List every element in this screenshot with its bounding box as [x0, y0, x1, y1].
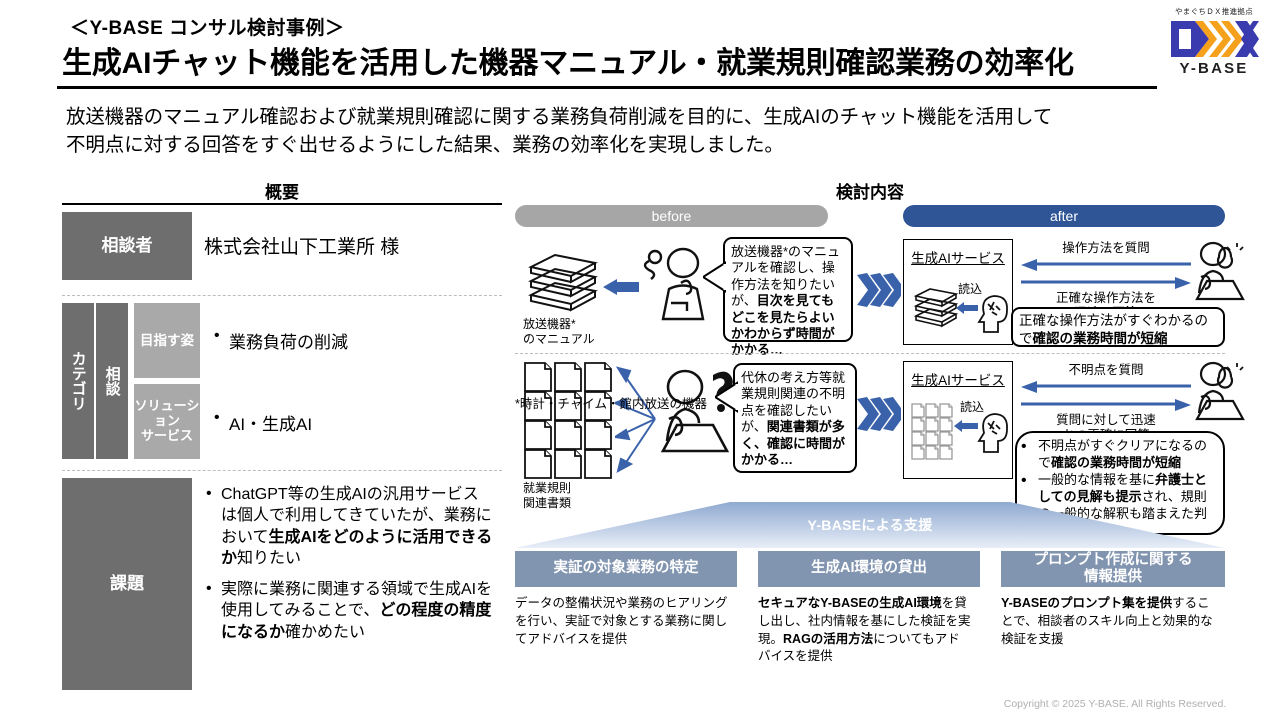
manual-caption-line2: のマニュアル	[523, 332, 595, 347]
support-card-2-title: 生成AI環境の貸出	[758, 551, 980, 587]
before-bubble-row2: 代休の考え方等就業規則関連の不明点を確認したいが、関連書類が多く、確認に時間がか…	[733, 363, 857, 473]
aim-bullet: 業務負荷の削減	[212, 328, 348, 353]
row-issue-label: 課題	[62, 478, 192, 690]
row-category-label: カテゴリ	[62, 303, 94, 459]
support-card-3-body: Y-BASEのプロンプト集を提供することで、相談者のスキル向上と効果的な検証を支…	[1001, 595, 1219, 648]
ai-read-arrow-row1	[956, 302, 978, 314]
issue-item: ChatGPT等の生成AIの汎用サービスは個人で利用してきていたが、業務において…	[204, 484, 494, 570]
ai-document-grid-icon	[910, 402, 958, 460]
arrow-up-text-row1: 操作方法を質問	[1062, 241, 1150, 255]
row-issue-value: ChatGPT等の生成AIの汎用サービスは個人で利用してきていたが、業務において…	[204, 484, 494, 643]
support-card-2-body: セキュアなY-BASEの生成AI環境を貸し出し、社内情報を基にした検証を実現。R…	[758, 595, 972, 666]
logo-tagline: やまぐちＤＸ推進拠点	[1158, 6, 1270, 17]
ai-brain-head-icon-row2	[976, 410, 1010, 454]
ai-service-box-row2: 生成AIサービス 読込	[903, 361, 1013, 479]
content-panel: before after 放送機器* のマニュアル 放送機器*のマニュアルを確認…	[515, 205, 1225, 695]
support-card-1-title: 実証の対象業務の特定	[515, 551, 737, 587]
arrow-right-row2	[1021, 399, 1191, 411]
manual-stack-icon	[525, 249, 601, 317]
arrow-right-row1	[1021, 277, 1191, 289]
solution-label-line2: サービス	[141, 429, 193, 444]
bubble-tail-row1	[703, 261, 727, 297]
issue-item: 実際に業務に関連する領域で生成AIを使用してみることで、どの程度の精度になるか確…	[204, 579, 494, 643]
support-card-1-body: データの整備状況や業務のヒアリングを行い、実証で対象とする業務に関してアドバイス…	[515, 595, 729, 648]
after-result-bubble-row1: 正確な操作方法がすぐわかるので確認の業務時間が短縮	[1011, 307, 1225, 347]
row-client-value: 株式会社山下工業所 様	[204, 232, 399, 259]
row-solution-label: ソリューション サービス	[134, 384, 200, 459]
card3-title-line2: 情報提供	[1084, 569, 1142, 586]
transition-chevrons-row1	[857, 273, 901, 307]
arrow-left-row2	[1021, 381, 1191, 393]
left-arrow-icon	[603, 279, 639, 295]
ai-brain-head-icon-row1	[976, 292, 1010, 334]
card3-title-line1: プロンプト作成に関する	[1033, 552, 1192, 569]
fan-arrows-icon	[615, 363, 657, 475]
result-text-plain: 一般的な情報を基に	[1038, 472, 1155, 487]
lead-paragraph: 放送機器のマニュアル確認および就業規則確認に関する業務負荷削減を目的に、生成AI…	[66, 104, 1186, 159]
document-grid-icon	[523, 361, 619, 479]
content-section-heading: 検討内容	[515, 178, 1225, 203]
result-text-bold-row1: 確認の業務時間が短縮	[1033, 331, 1168, 346]
title-divider	[57, 86, 1157, 89]
arrow-down-text-row1-l1: 正確な操作方法を	[1021, 291, 1191, 306]
table-divider-1	[62, 295, 502, 296]
arrow-left-row1	[1021, 259, 1191, 271]
ybase-logo: やまぐちＤＸ推進拠点 Y-BASE	[1158, 6, 1270, 80]
footnote: *時計・チャイム・館内放送の機器	[515, 393, 707, 412]
support-band-label: Y-BASEによる支援	[515, 515, 1225, 535]
dx-logo-icon	[1169, 19, 1261, 59]
arrow-up-label-row2: 不明点を質問	[1021, 363, 1191, 378]
issue-text-tail: 知りたい	[237, 550, 301, 567]
card3-bold1: Y-BASEのプロンプト集を提供	[1001, 596, 1172, 610]
ai-manual-stack-icon	[912, 284, 960, 328]
support-card-3-title: プロンプト作成に関する 情報提供	[1001, 551, 1225, 587]
manual-stack-caption: 放送機器* のマニュアル	[523, 317, 595, 347]
page-title: 生成AIチャット機能を活用した機器マニュアル・就業規則確認業務の効率化	[62, 38, 1074, 82]
row-solution-value: AI・生成AI	[212, 410, 312, 435]
lead-line-2: 不明点に対する回答をすぐ出せるようにした結果、業務の効率化を実現しました。	[66, 132, 1186, 160]
result-item-row2: 不明点がすぐクリアになるので確認の業務時間が短縮	[1019, 438, 1219, 472]
row-consult-label: 相談	[96, 303, 128, 459]
person-laptop-icon-row1	[1191, 241, 1247, 307]
slide-header: ＜Y-BASE コンサル検討事例＞ 生成AIチャット機能を活用した機器マニュアル…	[0, 0, 1280, 92]
before-bubble-row1: 放送機器*のマニュアルを確認し、操作方法を知りたいが、目次を見てもどこを見たらよ…	[723, 237, 853, 342]
ai-box-title: 生成AIサービス	[904, 247, 1012, 267]
after-pill: after	[903, 205, 1225, 227]
ai-service-box-row1: 生成AIサービス 読込	[903, 239, 1013, 345]
solution-bullet: AI・生成AI	[212, 410, 312, 435]
row-aim-label: 目指す姿	[134, 303, 200, 378]
overview-heading-rule	[62, 203, 502, 205]
ai-read-arrow-row2	[954, 420, 978, 432]
logo-wordmark: Y-BASE	[1158, 60, 1270, 77]
issue-text-tail: 確かめたい	[285, 624, 365, 641]
slide-kicker: ＜Y-BASE コンサル検討事例＞	[70, 13, 345, 40]
arrow-down-text-row2-l1: 質問に対して迅速	[1021, 413, 1191, 428]
overview-table: 相談者 株式会社山下工業所 様 カテゴリ 相談 目指す姿 業務負荷の削減 ソリュ…	[62, 212, 502, 690]
copyright-notice: Copyright © 2025 Y-BASE. All Rights Rese…	[955, 698, 1275, 710]
lead-line-1: 放送機器のマニュアル確認および就業規則確認に関する業務負荷削減を目的に、生成AI…	[66, 104, 1186, 132]
table-divider-2	[62, 470, 502, 471]
solution-label-line1: ソリューション	[134, 399, 200, 429]
arrow-up-label-row1: 操作方法を質問	[1021, 241, 1191, 256]
card1-text: データの整備状況や業務のヒアリングを行い、実証で対象とする業務に関してアドバイス…	[515, 596, 728, 646]
bubble-tail-row2	[715, 381, 739, 417]
card2-bold1: セキュアなY-BASEの生成AI環境	[758, 596, 942, 610]
result-text-bold: 確認の業務時間が短縮	[1051, 455, 1181, 470]
content-divider-1	[515, 353, 1225, 354]
manual-caption-line1: 放送機器*	[523, 317, 595, 332]
ai-box-title-row2: 生成AIサービス	[904, 369, 1012, 389]
arrow-up-text-row2: 不明点を質問	[1068, 363, 1143, 377]
row-aim-value: 業務負荷の削減	[212, 328, 348, 353]
row-client-label: 相談者	[62, 212, 192, 280]
transition-chevrons-row2	[857, 397, 901, 431]
docgrid-caption-line1: 就業規則	[523, 481, 571, 496]
person-laptop-icon-row2	[1191, 361, 1247, 429]
overview-section-heading: 概要	[62, 178, 502, 203]
card2-bold2: RAGの活用方法	[783, 632, 873, 646]
before-pill: before	[515, 205, 828, 227]
